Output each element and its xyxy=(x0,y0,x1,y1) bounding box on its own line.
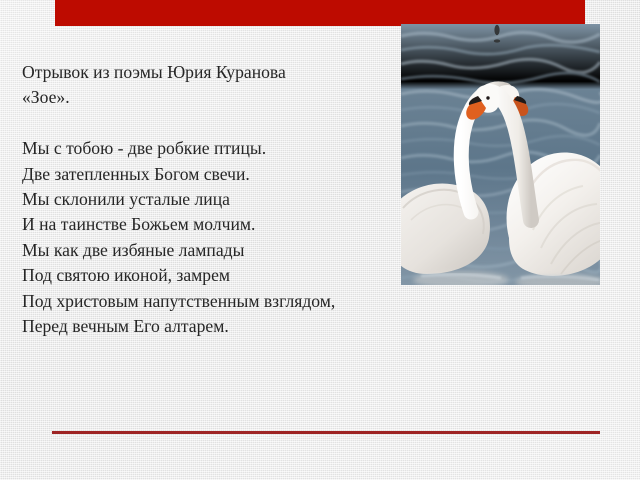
text-line-10: Перед вечным Его алтарем. xyxy=(22,314,542,339)
swans-photo xyxy=(401,24,600,285)
slide-canvas: Отрывок из поэмы Юрия Куранова «Зое». Мы… xyxy=(0,0,640,480)
bottom-divider xyxy=(52,431,600,434)
swans-photo-graphic xyxy=(401,24,600,285)
top-accent-banner xyxy=(55,0,585,26)
text-line-9: Под христовым напутственным взглядом, xyxy=(22,289,542,314)
